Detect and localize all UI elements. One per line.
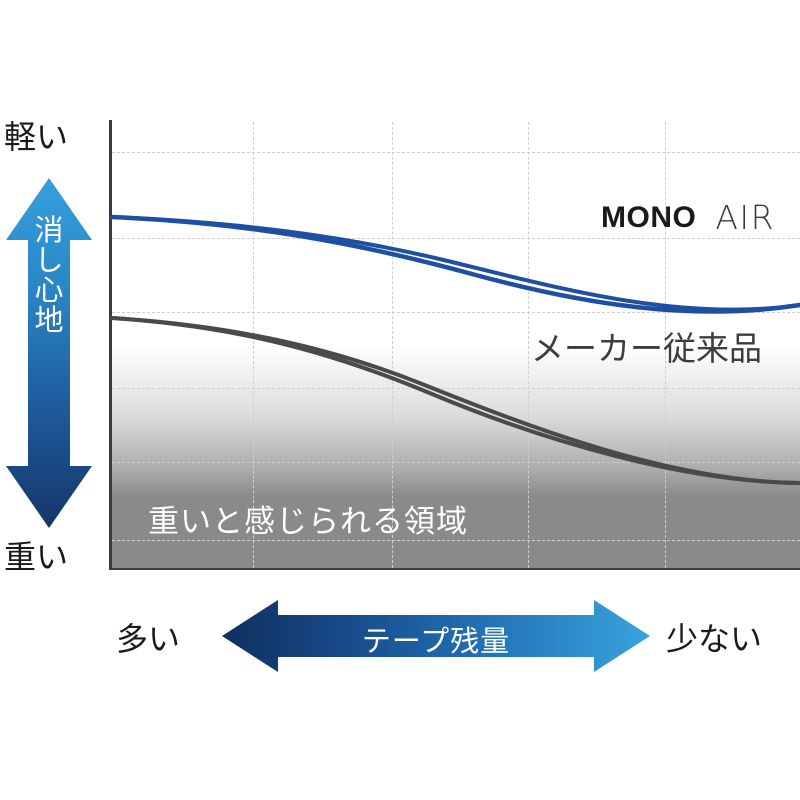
legend-mono-product: AIR [715,198,775,237]
y-axis-arrow-char-3: 心 [0,276,98,306]
mono-logo-bars-icon [565,207,592,229]
legend-conventional-product: メーカー従来品 [531,322,762,370]
y-axis-arrow-char-1: 消 [0,216,98,246]
heavy-region-label: 重いと感じられる領域 [148,496,468,541]
y-axis-arrow-char-2: し [0,246,98,276]
y-axis-bottom-label: 重い [4,532,68,578]
x-axis-annotation-group: 多い テープ残量 少ない [0,596,800,680]
x-axis-arrow-label: テープ残量 [222,618,650,660]
chart-figure: 軽い 消 し 心 地 重い [0,0,800,800]
y-axis-arrow-char-4: 地 [0,306,98,336]
y-axis-annotation-group: 軽い 消 し 心 地 重い [0,112,108,582]
x-axis-right-label: 少ない [666,614,762,660]
legend-mono-air: MONO AIR [565,198,775,237]
y-axis-top-label: 軽い [4,112,68,158]
y-axis-arrow-label: 消 し 心 地 [0,216,98,335]
x-axis-left-label: 多い [116,614,180,660]
legend-mono-brand: MONO [601,201,696,235]
